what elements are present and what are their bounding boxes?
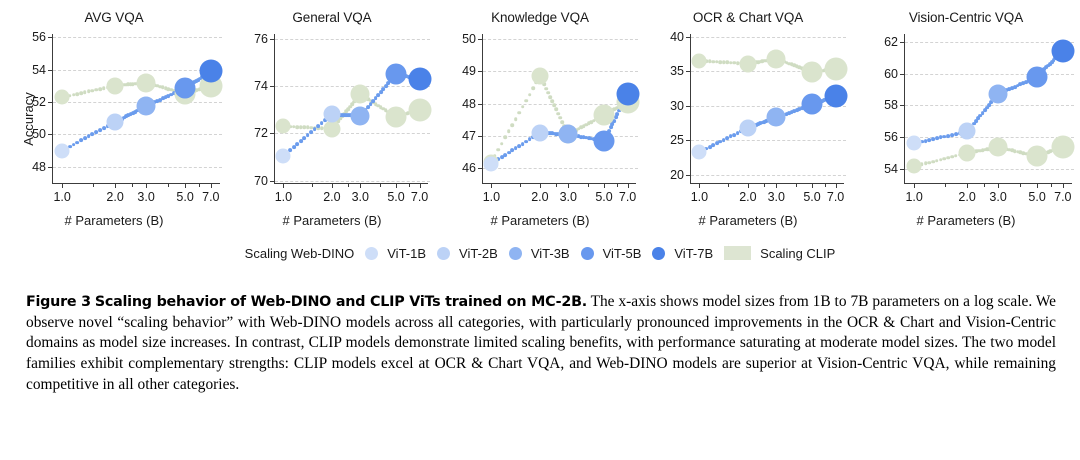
gridline	[53, 134, 222, 135]
x-tick-label: 2.0	[323, 190, 340, 204]
y-tick-label: 47	[462, 129, 476, 143]
data-point-webdino	[959, 123, 976, 140]
gridline	[275, 133, 430, 134]
x-tick-mark	[283, 183, 284, 188]
data-point-clip	[408, 98, 431, 121]
legend-item-vit-2b[interactable]: ViT-2B	[437, 246, 498, 261]
y-tick-mark	[900, 74, 905, 75]
y-tick-mark	[478, 39, 483, 40]
data-point-webdino	[739, 119, 756, 136]
y-tick-mark	[48, 37, 53, 38]
data-point-clip	[1027, 146, 1048, 167]
data-point-clip	[739, 55, 756, 72]
y-tick-mark	[478, 104, 483, 105]
x-tick-label: 1.0	[483, 190, 500, 204]
x-axis-title: # Parameters (B)	[852, 213, 1080, 228]
x-tick-mark	[604, 183, 605, 188]
y-tick-label: 60	[884, 67, 898, 81]
data-point-webdino	[907, 136, 922, 151]
data-point-webdino	[276, 148, 291, 163]
data-point-clip	[531, 68, 548, 85]
x-tick-mark	[836, 183, 837, 188]
x-tick-label: 3.0	[768, 190, 785, 204]
y-tick-label: 48	[32, 160, 46, 174]
legend-item-label: ViT-3B	[531, 246, 570, 261]
data-point-clip	[1051, 135, 1074, 158]
data-point-webdino	[323, 106, 340, 123]
trend-dot	[531, 87, 535, 91]
plot-area: 20253035401.02.03.05.07.0	[690, 34, 844, 184]
trend-dot	[616, 112, 620, 116]
y-tick-mark	[478, 136, 483, 137]
legend-swatch-icon	[509, 247, 522, 260]
panel-title: Vision-Centric VQA	[852, 10, 1080, 25]
data-point-clip	[802, 61, 823, 82]
x-tick-mark	[699, 183, 700, 188]
legend-item-vit-7b[interactable]: ViT-7B	[652, 246, 713, 261]
data-point-webdino	[107, 114, 124, 131]
gridline	[53, 70, 222, 71]
legend-swatch-icon	[581, 247, 594, 260]
x-tick-label: 5.0	[595, 190, 612, 204]
data-point-webdino	[824, 85, 847, 108]
data-point-webdino	[767, 108, 786, 127]
caption-label: Figure 3	[26, 294, 91, 310]
x-tick-mark	[967, 183, 968, 188]
x-tick-mark	[812, 183, 813, 188]
x-tick-mark	[146, 183, 147, 188]
x-tick-label: 5.0	[803, 190, 820, 204]
x-tick-mark-minor	[1051, 183, 1052, 187]
data-point-clip	[386, 106, 407, 127]
x-tick-label: 3.0	[137, 190, 154, 204]
y-tick-label: 48	[462, 97, 476, 111]
x-tick-mark-minor	[132, 183, 133, 187]
x-tick-label: 3.0	[989, 190, 1006, 204]
gridline	[691, 175, 846, 176]
y-tick-mark	[686, 106, 691, 107]
legend-item-vit-1b[interactable]: ViT-1B	[365, 246, 426, 261]
x-tick-label: 7.0	[619, 190, 636, 204]
trend-dot	[503, 136, 507, 140]
y-tick-label: 58	[884, 98, 898, 112]
trend-dot	[609, 126, 613, 130]
gridline	[53, 37, 222, 38]
data-point-clip	[907, 159, 922, 174]
x-tick-mark-minor	[984, 183, 985, 187]
gridline	[275, 181, 430, 182]
x-tick-mark-minor	[796, 183, 797, 187]
x-tick-mark	[115, 183, 116, 188]
x-tick-mark	[360, 183, 361, 188]
plot-area: 46474849501.02.03.05.07.0	[482, 34, 636, 184]
x-tick-mark	[998, 183, 999, 188]
trend-dot	[510, 123, 514, 127]
data-point-webdino	[175, 78, 196, 99]
data-point-webdino	[616, 82, 639, 105]
data-point-webdino	[408, 67, 431, 90]
x-tick-label: 5.0	[1028, 190, 1045, 204]
y-tick-label: 49	[462, 64, 476, 78]
x-tick-mark	[1063, 183, 1064, 188]
y-tick-mark	[270, 133, 275, 134]
x-tick-mark-minor	[520, 183, 521, 187]
x-tick-mark-minor	[312, 183, 313, 187]
data-point-webdino	[55, 143, 70, 158]
legend-swatch-icon	[652, 247, 665, 260]
data-point-clip	[55, 90, 70, 105]
x-tick-mark-minor	[93, 183, 94, 187]
data-point-webdino	[1051, 39, 1074, 62]
data-point-clip	[989, 138, 1008, 157]
data-point-clip	[594, 104, 615, 125]
y-tick-label: 70	[254, 174, 268, 188]
x-tick-label: 1.0	[691, 190, 708, 204]
y-tick-mark	[686, 71, 691, 72]
panel-title: AVG VQA	[0, 10, 228, 25]
trend-dot	[507, 129, 511, 133]
x-tick-mark-minor	[199, 183, 200, 187]
x-tick-mark	[568, 183, 569, 188]
y-tick-label: 20	[670, 168, 684, 182]
data-point-webdino	[531, 124, 548, 141]
x-tick-label: 2.0	[531, 190, 548, 204]
x-tick-mark-minor	[409, 183, 410, 187]
gridline	[905, 42, 1074, 43]
y-tick-mark	[478, 71, 483, 72]
trend-dot	[611, 122, 615, 126]
data-point-webdino	[199, 60, 222, 83]
x-axis-title: # Parameters (B)	[644, 213, 852, 228]
y-tick-mark	[686, 37, 691, 38]
y-tick-mark	[270, 181, 275, 182]
y-axis-title: Accuracy	[21, 92, 36, 145]
x-tick-mark	[332, 183, 333, 188]
y-tick-label: 56	[32, 30, 46, 44]
y-tick-mark	[48, 102, 53, 103]
trend-dot	[521, 105, 525, 109]
chart-panel-5: Vision-Centric VQA54565860621.02.03.05.0…	[852, 8, 1080, 230]
x-tick-label: 1.0	[905, 190, 922, 204]
data-point-webdino	[802, 94, 823, 115]
y-tick-label: 50	[462, 32, 476, 46]
y-tick-label: 35	[670, 64, 684, 78]
y-tick-label: 46	[462, 161, 476, 175]
y-tick-label: 30	[670, 99, 684, 113]
legend-item-scaling-clip[interactable]: Scaling CLIP	[724, 246, 835, 261]
figure-caption: Figure 3Scaling behavior of Web-DINO and…	[26, 292, 1056, 396]
gridline	[691, 37, 846, 38]
x-axis-title: # Parameters (B)	[436, 213, 644, 228]
gridline	[483, 39, 638, 40]
trend-dot	[528, 93, 532, 97]
x-tick-mark	[185, 183, 186, 188]
x-tick-label: 5.0	[176, 190, 193, 204]
y-tick-mark	[48, 167, 53, 168]
x-tick-mark-minor	[168, 183, 169, 187]
gridline	[691, 106, 846, 107]
trend-dot	[558, 116, 562, 120]
plot-area: 707274761.02.03.05.07.0	[274, 34, 428, 184]
x-tick-mark	[396, 183, 397, 188]
caption-bold-title: Scaling behavior of Web-DINO and CLIP Vi…	[95, 294, 587, 310]
x-axis-title: # Parameters (B)	[228, 213, 436, 228]
chart-legend: Scaling Web-DINOViT-1BViT-2BViT-3BViT-5B…	[0, 238, 1080, 268]
chart-panel-2: General VQA707274761.02.03.05.07.0# Para…	[228, 8, 436, 230]
x-tick-label: 7.0	[411, 190, 428, 204]
x-tick-label: 3.0	[352, 190, 369, 204]
plot-area: 48505254561.02.03.05.07.0	[52, 34, 220, 184]
legend-item-vit-5b[interactable]: ViT-5B	[581, 246, 642, 261]
y-tick-mark	[48, 70, 53, 71]
trend-dot	[554, 108, 558, 112]
chart-panel-4: OCR & Chart VQA20253035401.02.03.05.07.0…	[644, 8, 852, 230]
data-point-webdino	[137, 97, 156, 116]
x-tick-mark	[491, 183, 492, 188]
x-tick-mark-minor	[588, 183, 589, 187]
trend-dot	[497, 148, 501, 152]
trend-dot	[552, 103, 556, 107]
data-point-webdino	[484, 156, 499, 171]
trend-dot	[544, 87, 548, 91]
data-point-clip	[137, 73, 156, 92]
legend-item-label: ViT-7B	[674, 246, 713, 261]
x-tick-mark	[420, 183, 421, 188]
x-tick-mark-minor	[1020, 183, 1021, 187]
y-tick-mark	[900, 42, 905, 43]
plot-area: 54565860621.02.03.05.07.0	[904, 34, 1072, 184]
gridline	[53, 167, 222, 168]
data-point-clip	[692, 53, 707, 68]
x-tick-mark-minor	[945, 183, 946, 187]
data-point-webdino	[351, 106, 370, 125]
x-tick-mark-minor	[556, 183, 557, 187]
data-point-clip	[351, 85, 370, 104]
x-tick-label: 7.0	[827, 190, 844, 204]
trend-dot	[556, 112, 560, 116]
gridline	[691, 140, 846, 141]
y-tick-label: 76	[254, 32, 268, 46]
data-point-webdino	[386, 64, 407, 85]
chart-panel-1: AVG VQA48505254561.02.03.05.07.0# Parame…	[0, 8, 228, 230]
y-tick-mark	[900, 137, 905, 138]
x-tick-label: 7.0	[202, 190, 219, 204]
data-point-webdino	[594, 130, 615, 151]
x-tick-mark	[540, 183, 541, 188]
trend-dot	[548, 95, 552, 99]
y-tick-mark	[686, 140, 691, 141]
x-tick-mark-minor	[825, 183, 826, 187]
gridline	[905, 169, 1074, 170]
y-tick-label: 25	[670, 133, 684, 147]
panel-title: General VQA	[228, 10, 436, 25]
y-tick-label: 72	[254, 126, 268, 140]
gridline	[275, 39, 430, 40]
data-point-clip	[276, 119, 291, 134]
y-tick-label: 40	[670, 30, 684, 44]
y-tick-mark	[900, 105, 905, 106]
data-point-clip	[824, 58, 847, 81]
figure-root: AVG VQA48505254561.02.03.05.07.0# Parame…	[0, 0, 1080, 460]
chart-panel-3: Knowledge VQA46474849501.02.03.05.07.0# …	[436, 8, 644, 230]
legend-item-label: ViT-5B	[603, 246, 642, 261]
data-point-webdino	[559, 125, 578, 144]
x-tick-mark	[62, 183, 63, 188]
y-tick-mark	[686, 175, 691, 176]
x-tick-label: 1.0	[275, 190, 292, 204]
data-point-clip	[107, 77, 124, 94]
legend-swatch-icon	[437, 247, 450, 260]
x-tick-mark	[748, 183, 749, 188]
trend-dot	[546, 91, 550, 95]
gridline	[483, 104, 638, 105]
gridline	[483, 168, 638, 169]
panel-title: Knowledge VQA	[436, 10, 644, 25]
trend-dot	[524, 99, 528, 103]
legend-swatch-icon	[365, 247, 378, 260]
y-tick-label: 54	[884, 162, 898, 176]
y-tick-mark	[48, 134, 53, 135]
x-tick-mark	[1037, 183, 1038, 188]
data-point-webdino	[692, 144, 707, 159]
x-tick-label: 2.0	[106, 190, 123, 204]
x-tick-mark-minor	[380, 183, 381, 187]
legend-label-webdino: Scaling Web-DINO	[245, 246, 355, 261]
y-tick-label: 74	[254, 79, 268, 93]
y-tick-mark	[270, 86, 275, 87]
gridline	[483, 71, 638, 72]
trend-dot	[560, 120, 564, 124]
x-tick-mark	[914, 183, 915, 188]
data-point-webdino	[989, 85, 1008, 104]
panel-title: OCR & Chart VQA	[644, 10, 852, 25]
x-tick-mark-minor	[617, 183, 618, 187]
gridline	[905, 74, 1074, 75]
data-point-clip	[767, 49, 786, 68]
x-tick-label: 5.0	[387, 190, 404, 204]
legend-item-vit-3b[interactable]: ViT-3B	[509, 246, 570, 261]
trend-dot	[500, 142, 504, 146]
x-tick-label: 7.0	[1054, 190, 1071, 204]
y-tick-mark	[900, 169, 905, 170]
data-point-clip	[959, 144, 976, 161]
x-tick-mark	[211, 183, 212, 188]
x-tick-mark	[628, 183, 629, 188]
x-axis-title: # Parameters (B)	[0, 213, 228, 228]
x-tick-mark-minor	[728, 183, 729, 187]
trend-dot	[517, 111, 521, 115]
y-tick-mark	[270, 39, 275, 40]
x-tick-mark-minor	[348, 183, 349, 187]
x-tick-label: 3.0	[560, 190, 577, 204]
legend-swatch-clip-icon	[724, 246, 751, 260]
legend-label-clip: Scaling CLIP	[760, 246, 835, 261]
y-tick-mark	[478, 168, 483, 169]
chart-panel-row: AVG VQA48505254561.02.03.05.07.0# Parame…	[0, 8, 1080, 230]
x-tick-label: 2.0	[958, 190, 975, 204]
x-tick-label: 1.0	[53, 190, 70, 204]
legend-item-label: ViT-2B	[459, 246, 498, 261]
y-tick-label: 56	[884, 130, 898, 144]
data-point-webdino	[1027, 66, 1048, 87]
x-tick-mark	[776, 183, 777, 188]
y-tick-label: 62	[884, 35, 898, 49]
y-tick-label: 54	[32, 63, 46, 77]
trend-dot	[514, 117, 518, 121]
x-tick-mark-minor	[764, 183, 765, 187]
x-tick-label: 2.0	[739, 190, 756, 204]
trend-dot	[550, 99, 554, 103]
legend-item-label: ViT-1B	[387, 246, 426, 261]
